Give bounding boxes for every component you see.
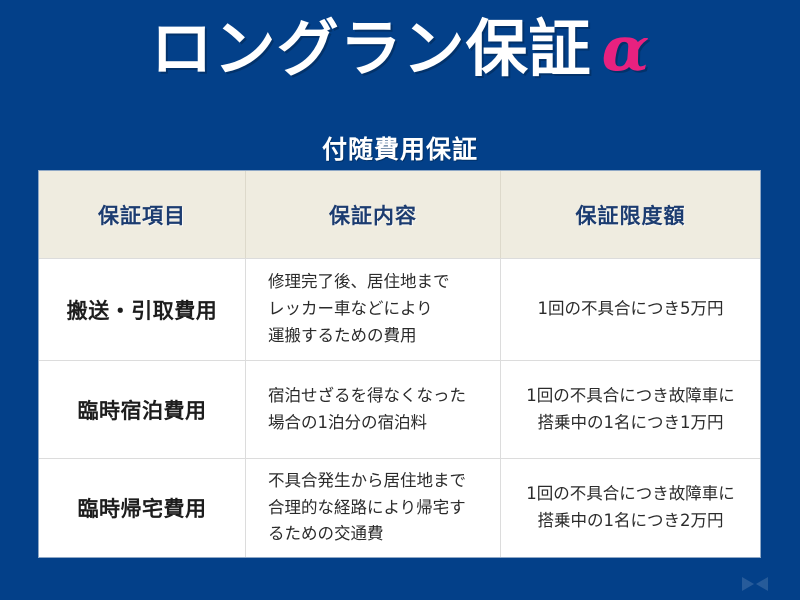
row-limit-line: 1回の不具合につき5万円 bbox=[538, 296, 724, 323]
row-limit-cell: 1回の不具合につき5万円 bbox=[500, 259, 760, 360]
row-content-line: 場合の1泊分の宿泊料 bbox=[268, 410, 466, 437]
row-content-line: 不具合発生から居住地まで bbox=[268, 468, 466, 495]
row-limit-cell: 1回の不具合につき故障車に 搭乗中の1名につき2万円 bbox=[500, 459, 760, 557]
row-limit-cell: 1回の不具合につき故障車に 搭乗中の1名につき1万円 bbox=[500, 361, 760, 458]
row-content-line: 修理完了後、居住地まで bbox=[268, 269, 450, 296]
coverage-table: 保証項目 保証内容 保証限度額 搬送・引取費用 修理完了後、居住地まで レッカー… bbox=[38, 170, 761, 558]
table-row: 臨時帰宅費用 不具合発生から居住地まで 合理的な経路により帰宅す るための交通費… bbox=[39, 458, 760, 557]
table-header-row: 保証項目 保証内容 保証限度額 bbox=[39, 171, 760, 258]
row-limit-line: 搭乗中の1名につき1万円 bbox=[526, 410, 735, 437]
column-header-limit-label: 保証限度額 bbox=[576, 200, 686, 230]
title-alpha-symbol: α bbox=[602, 12, 650, 85]
row-content-text: 不具合発生から居住地まで 合理的な経路により帰宅す るための交通費 bbox=[268, 468, 466, 548]
row-content-line: 運搬するための費用 bbox=[268, 323, 450, 350]
watermark bbox=[742, 576, 776, 592]
row-content-cell: 修理完了後、居住地まで レッカー車などにより 運搬するための費用 bbox=[245, 259, 500, 360]
column-header-content: 保証内容 bbox=[245, 171, 500, 258]
row-item-cell: 臨時宿泊費用 bbox=[39, 361, 245, 458]
row-limit-line: 1回の不具合につき故障車に bbox=[526, 383, 735, 410]
row-content-line: 合理的な経路により帰宅す bbox=[268, 495, 466, 522]
row-limit-text: 1回の不具合につき故障車に 搭乗中の1名につき1万円 bbox=[526, 383, 735, 436]
row-limit-text: 1回の不具合につき5万円 bbox=[538, 296, 724, 323]
row-limit-text: 1回の不具合につき故障車に 搭乗中の1名につき2万円 bbox=[526, 481, 735, 534]
row-content-line: るための交通費 bbox=[268, 521, 466, 548]
row-content-line: レッカー車などにより bbox=[268, 296, 450, 323]
table-row: 臨時宿泊費用 宿泊せざるを得なくなった 場合の1泊分の宿泊料 1回の不具合につき… bbox=[39, 360, 760, 458]
table-row: 搬送・引取費用 修理完了後、居住地まで レッカー車などにより 運搬するための費用… bbox=[39, 258, 760, 360]
row-content-text: 修理完了後、居住地まで レッカー車などにより 運搬するための費用 bbox=[268, 269, 450, 349]
column-header-item: 保証項目 bbox=[39, 171, 245, 258]
row-item-label: 臨時帰宅費用 bbox=[78, 493, 207, 523]
row-limit-line: 1回の不具合につき故障車に bbox=[526, 481, 735, 508]
row-item-label: 臨時宿泊費用 bbox=[78, 395, 207, 425]
row-item-cell: 搬送・引取費用 bbox=[39, 259, 245, 360]
title-main-text: ロングラン保証 bbox=[151, 12, 592, 85]
column-header-content-label: 保証内容 bbox=[329, 200, 417, 230]
row-content-line: 宿泊せざるを得なくなった bbox=[268, 383, 466, 410]
row-limit-line: 搭乗中の1名につき2万円 bbox=[526, 508, 735, 535]
page-subtitle: 付随費用保証 bbox=[0, 130, 800, 166]
page-title: ロングラン保証α bbox=[0, 18, 800, 80]
bowtie-logo-icon bbox=[742, 576, 768, 592]
row-item-cell: 臨時帰宅費用 bbox=[39, 459, 245, 557]
row-item-label: 搬送・引取費用 bbox=[67, 295, 218, 325]
column-header-limit: 保証限度額 bbox=[500, 171, 760, 258]
row-content-cell: 不具合発生から居住地まで 合理的な経路により帰宅す るための交通費 bbox=[245, 459, 500, 557]
row-content-text: 宿泊せざるを得なくなった 場合の1泊分の宿泊料 bbox=[268, 383, 466, 436]
column-header-item-label: 保証項目 bbox=[98, 200, 186, 230]
row-content-cell: 宿泊せざるを得なくなった 場合の1泊分の宿泊料 bbox=[245, 361, 500, 458]
